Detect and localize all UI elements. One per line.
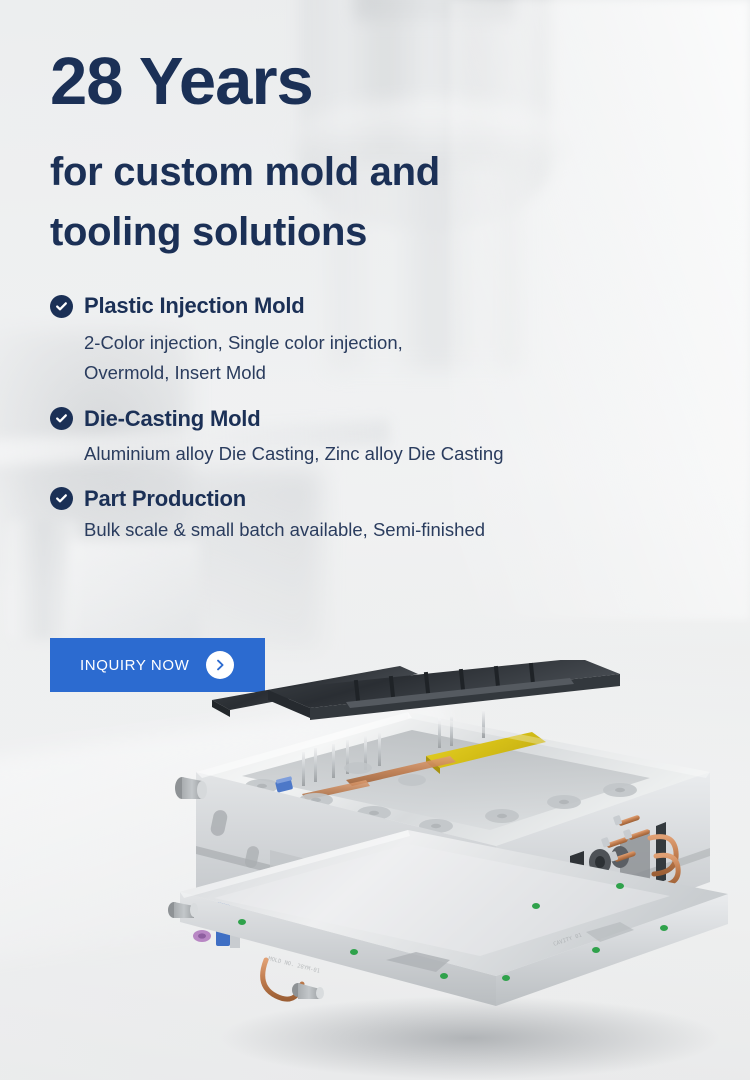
svg-text:MOLD NO. 28YM-01: MOLD NO. 28YM-01 <box>268 956 321 975</box>
check-circle-icon <box>50 295 73 318</box>
list-item: Plastic Injection Mold 2-Color injection… <box>50 293 690 388</box>
feature-description-line: 2-Color injection, Single color injectio… <box>84 328 690 358</box>
feature-title: Part Production <box>84 486 246 512</box>
feature-header: Part Production <box>50 486 690 512</box>
feature-description-line: Bulk scale & small batch available, Semi… <box>84 515 690 545</box>
feature-header: Die-Casting Mold <box>50 406 690 432</box>
mold-dark-inserts <box>212 660 620 720</box>
page-title: 28 Years <box>50 48 313 115</box>
feature-list: Plastic Injection Mold 2-Color injection… <box>50 293 690 545</box>
page-subtitle-line-2: tooling solutions <box>50 202 440 262</box>
feature-title: Die-Casting Mold <box>84 406 260 432</box>
check-circle-icon <box>50 487 73 510</box>
feature-header: Plastic Injection Mold <box>50 293 690 319</box>
hero-banner: 28 Years for custom mold and tooling sol… <box>0 0 750 1080</box>
page-subtitle-line-1: for custom mold and <box>50 142 440 202</box>
feature-description: 2-Color injection, Single color injectio… <box>84 328 690 388</box>
feature-description-line: Overmold, Insert Mold <box>84 358 690 388</box>
feature-description: Aluminium alloy Die Casting, Zinc alloy … <box>84 439 690 469</box>
list-item: Die-Casting Mold Aluminium alloy Die Cas… <box>50 406 690 469</box>
list-item: Part Production Bulk scale & small batch… <box>50 486 690 545</box>
feature-description-line: Aluminium alloy Die Casting, Zinc alloy … <box>84 439 690 469</box>
feature-title: Plastic Injection Mold <box>84 293 305 319</box>
page-subtitle: for custom mold and tooling solutions <box>50 142 440 262</box>
check-circle-icon <box>50 407 73 430</box>
feature-description: Bulk scale & small batch available, Semi… <box>84 515 690 545</box>
injection-mold-render: MOLD NO. <box>150 660 750 1080</box>
